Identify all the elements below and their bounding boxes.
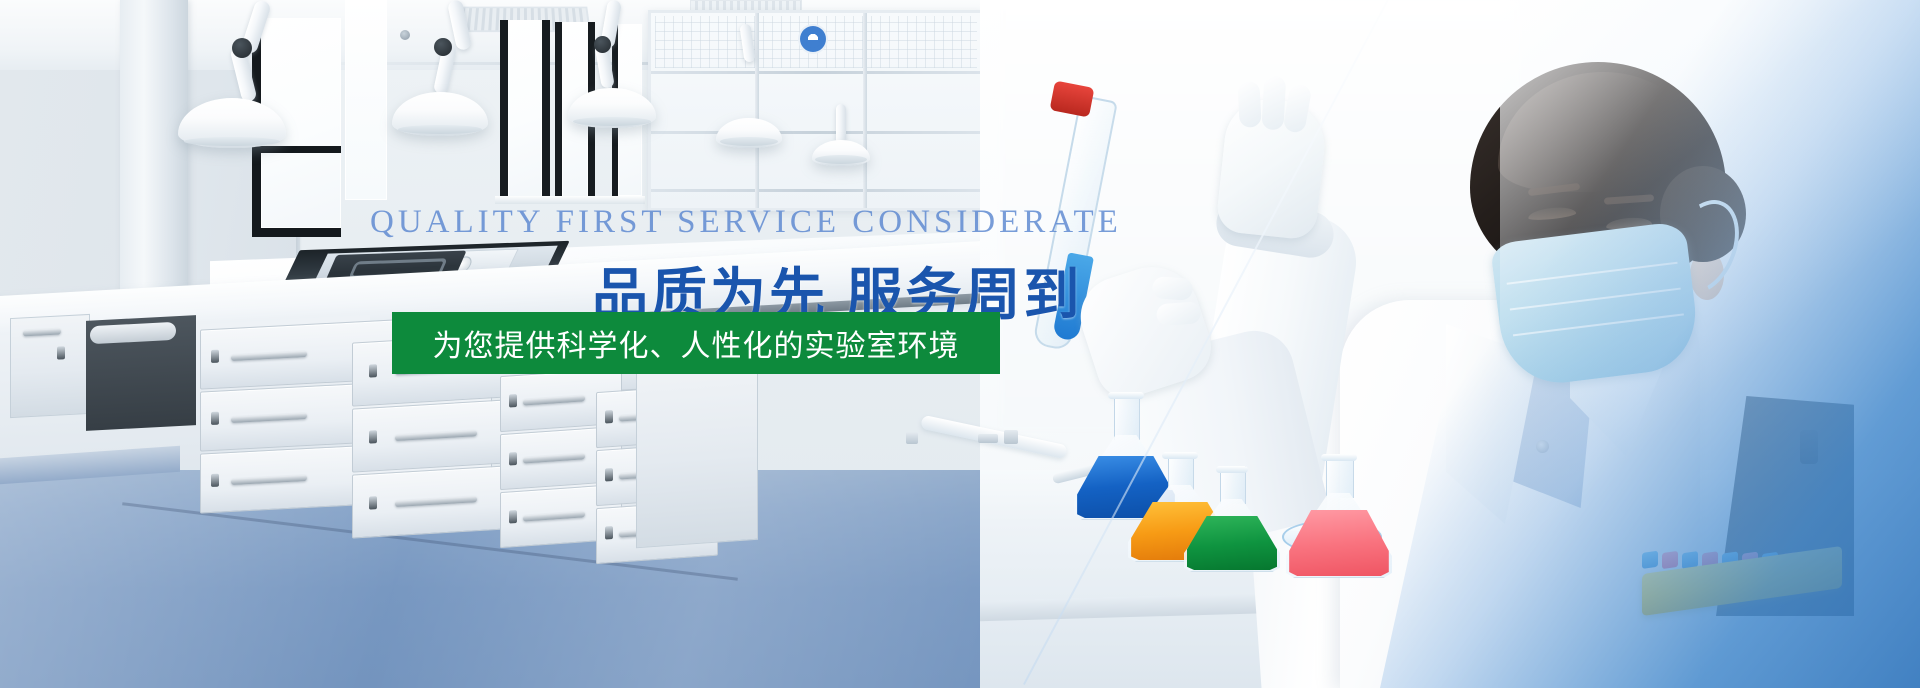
banner-eyebrow-text: QUALITY FIRST SERVICE CONSIDERATE <box>370 204 1122 241</box>
window-sill <box>495 196 645 204</box>
lab-hero-banner: QUALITY FIRST SERVICE CONSIDERATE 品质为先 服… <box>0 0 1920 688</box>
flask-neck <box>1114 392 1141 440</box>
drawer-lock-icon <box>509 452 517 466</box>
lab-tall-cabinet <box>636 348 758 549</box>
drawer-lock-icon <box>211 412 219 425</box>
flask-lip <box>1321 454 1357 461</box>
window-mullion <box>261 146 341 153</box>
small-lab-chip <box>1004 430 1018 444</box>
window-frame <box>345 0 387 200</box>
flask-lip <box>1216 466 1249 473</box>
drawer-lock-icon <box>605 410 613 424</box>
drawer-handle <box>523 395 585 405</box>
glove-finger <box>1237 81 1261 128</box>
lab-cabinet <box>10 314 90 418</box>
drawer-handle <box>395 496 477 507</box>
glove-finger <box>1156 301 1201 326</box>
erlenmeyer-flask-green <box>1184 466 1280 572</box>
drawer-lock-icon <box>369 430 377 443</box>
flask-liquid <box>1187 516 1277 570</box>
drawer-handle <box>395 430 477 441</box>
biohazard-sign-icon <box>800 26 826 52</box>
hood-rim <box>398 125 482 134</box>
hood-rim <box>720 137 778 146</box>
glove-finger <box>1261 75 1286 130</box>
drawer-lock-icon <box>369 364 377 377</box>
extraction-arm-segment <box>836 104 846 144</box>
erlenmeyer-flask-pink <box>1286 454 1392 578</box>
shelf-board <box>651 189 981 192</box>
hood-rim <box>573 117 650 126</box>
shelf-board <box>651 71 981 74</box>
drawer-lock-icon <box>369 496 377 509</box>
drawer-handle <box>231 351 307 361</box>
shelf-post <box>755 13 759 208</box>
small-lab-chip <box>906 432 918 444</box>
hood-rim <box>184 137 279 146</box>
shelf-post <box>863 13 867 208</box>
cabinet-handle <box>23 328 61 336</box>
drawer-lock-icon <box>509 510 517 524</box>
drawer-lock-icon <box>211 350 219 363</box>
hood-rim <box>815 155 866 164</box>
cabinet-lock-icon <box>57 346 65 359</box>
glove-finger <box>1152 276 1193 301</box>
drawer-handle <box>523 453 585 463</box>
drawer-handle <box>231 475 307 485</box>
flask-lip <box>1108 392 1143 399</box>
banner-subtitle-bar: 为您提供科学化、人性化的实验室环境 <box>392 312 1000 374</box>
drawer-handle <box>231 413 307 423</box>
flask-liquid <box>1289 510 1389 576</box>
shelf-board <box>651 131 981 134</box>
drawer-lock-icon <box>509 394 517 408</box>
flask-lip <box>1162 452 1197 459</box>
banner-subtitle-text: 为您提供科学化、人性化的实验室环境 <box>433 321 960 365</box>
sprinkler-head-icon <box>400 30 410 40</box>
structural-column <box>120 0 188 322</box>
small-lab-chip <box>978 434 998 443</box>
drawer-handle <box>523 511 585 521</box>
extraction-arm-joint <box>434 38 452 56</box>
window-frame <box>500 20 550 200</box>
extraction-arm-joint <box>232 38 252 58</box>
extraction-arm-joint <box>594 36 611 53</box>
drawer-lock-icon <box>211 474 219 487</box>
drawer-lock-icon <box>605 468 613 482</box>
drawer-lock-icon <box>605 526 613 540</box>
